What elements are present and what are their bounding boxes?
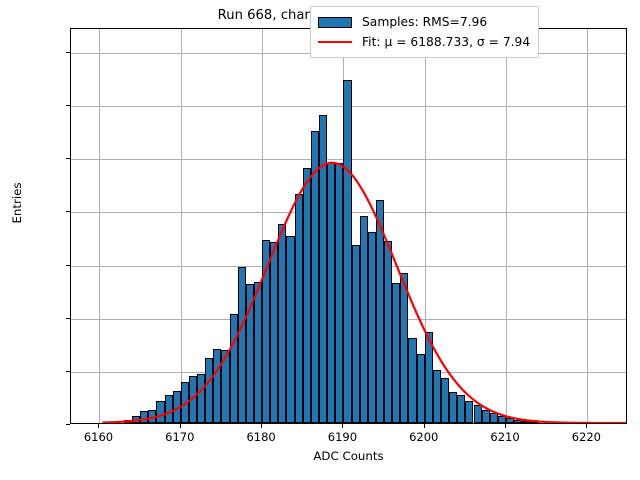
x-tick-mark: [586, 424, 587, 428]
x-tick-mark: [261, 424, 262, 428]
x-tick-label: 6190: [328, 430, 357, 444]
y-tick-mark: [66, 424, 70, 425]
x-axis-label: ADC Counts: [70, 449, 627, 463]
legend-swatch-samples-icon: [318, 17, 352, 28]
x-tick-label: 6170: [165, 430, 194, 444]
legend-label-samples: Samples: RMS=7.96: [362, 15, 487, 29]
fit-path: [103, 163, 626, 423]
y-axis-label: Entries: [10, 123, 24, 283]
legend-entry-fit: Fit: μ = 6188.733, σ = 7.94: [318, 32, 530, 52]
plot-area: [70, 28, 627, 424]
x-tick-mark: [180, 424, 181, 428]
x-tick-label: 6160: [84, 430, 113, 444]
legend-swatch-fit-icon: [318, 41, 352, 43]
x-tick-label: 6210: [490, 430, 519, 444]
x-tick-mark: [424, 424, 425, 428]
x-tick-label: 6200: [409, 430, 438, 444]
x-tick-mark: [342, 424, 343, 428]
legend-entry-samples: Samples: RMS=7.96: [318, 12, 530, 32]
chart-legend: Samples: RMS=7.96 Fit: μ = 6188.733, σ =…: [310, 6, 539, 58]
x-tick-mark: [98, 424, 99, 428]
legend-label-fit: Fit: μ = 6188.733, σ = 7.94: [362, 35, 530, 49]
gaussian-fit-curve: [71, 29, 626, 423]
x-tick-mark: [505, 424, 506, 428]
x-tick-label: 6220: [572, 430, 601, 444]
matplotlib-figure: Run 668, channel104, Pedestal Entries AD…: [0, 0, 640, 480]
x-tick-label: 6180: [246, 430, 275, 444]
